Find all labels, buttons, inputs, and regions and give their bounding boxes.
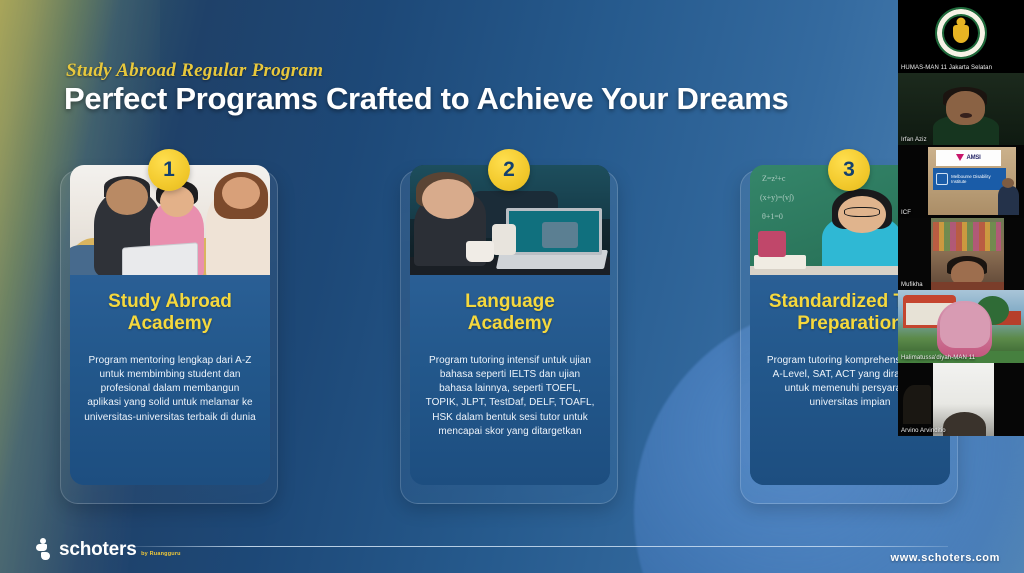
- slide-eyebrow: Study Abroad Regular Program: [66, 60, 323, 82]
- card-1-body: Study Abroad Academy Program mentoring l…: [70, 275, 270, 485]
- participant-name: Arvino Arvinditio: [901, 428, 946, 434]
- card-description-1: Program mentoring lengkap dari A-Z untuk…: [78, 354, 262, 425]
- participant-tile[interactable]: Mufikha: [898, 218, 1024, 291]
- program-card-2[interactable]: 2 Language Academy Program tutoring inte…: [400, 170, 618, 504]
- presentation-slide: Study Abroad Regular Program Perfect Pro…: [0, 0, 1024, 573]
- program-card-1[interactable]: 1 Study Abroad Academy Program mentoring…: [60, 170, 278, 504]
- card-badge-2: 2: [488, 149, 530, 191]
- schoters-mark-icon: [36, 538, 52, 560]
- school-crest-icon: [935, 7, 987, 59]
- participant-name: Irfan Aziz: [901, 137, 927, 143]
- amsi-poster-logo: AMSI: [936, 150, 1002, 166]
- logo-wordmark: schoters: [59, 539, 137, 560]
- card-2-body: Language Academy Program tutoring intens…: [410, 275, 610, 485]
- participant-name: Halimatussa'diyah-MAN 11: [901, 355, 975, 361]
- poster-line-1: AMSI: [966, 155, 980, 161]
- participant-tile[interactable]: Arvino Arvinditio: [898, 363, 1024, 436]
- card-badge-3: 3: [828, 149, 870, 191]
- poster-line-2: Melbourne Disability Institute: [951, 174, 1006, 185]
- card-2-inner: Language Academy Program tutoring intens…: [410, 165, 610, 485]
- participant-name: ICF: [901, 210, 911, 216]
- card-title-2: Language Academy: [418, 291, 602, 336]
- participant-tile[interactable]: Halimatussa'diyah-MAN 11: [898, 290, 1024, 363]
- card-1-inner: Study Abroad Academy Program mentoring l…: [70, 165, 270, 485]
- participant-tile[interactable]: Irfan Aziz: [898, 73, 1024, 146]
- card-description-2: Program tutoring intensif untuk ujian ba…: [418, 354, 602, 439]
- footer-divider: [136, 546, 948, 547]
- participant-tile[interactable]: HUMAS-MAN 11 Jakarta Selatan: [898, 0, 1024, 73]
- mdi-poster-banner: Melbourne Disability Institute: [933, 168, 1006, 190]
- participant-tile[interactable]: AMSI Melbourne Disability Institute ICF: [898, 145, 1024, 218]
- video-participants-panel[interactable]: HUMAS-MAN 11 Jakarta Selatan Irfan Aziz …: [898, 0, 1024, 436]
- website-url: www.schoters.com: [891, 552, 1000, 564]
- card-title-1: Study Abroad Academy: [78, 291, 262, 336]
- logo-tagline: by Ruangguru: [141, 551, 181, 557]
- card-badge-1: 1: [148, 149, 190, 191]
- schoters-logo: schoters by Ruangguru: [36, 538, 181, 560]
- participant-name: HUMAS-MAN 11 Jakarta Selatan: [901, 65, 992, 71]
- participant-name: Mufikha: [901, 282, 923, 288]
- page-title: Perfect Programs Crafted to Achieve Your…: [64, 81, 788, 117]
